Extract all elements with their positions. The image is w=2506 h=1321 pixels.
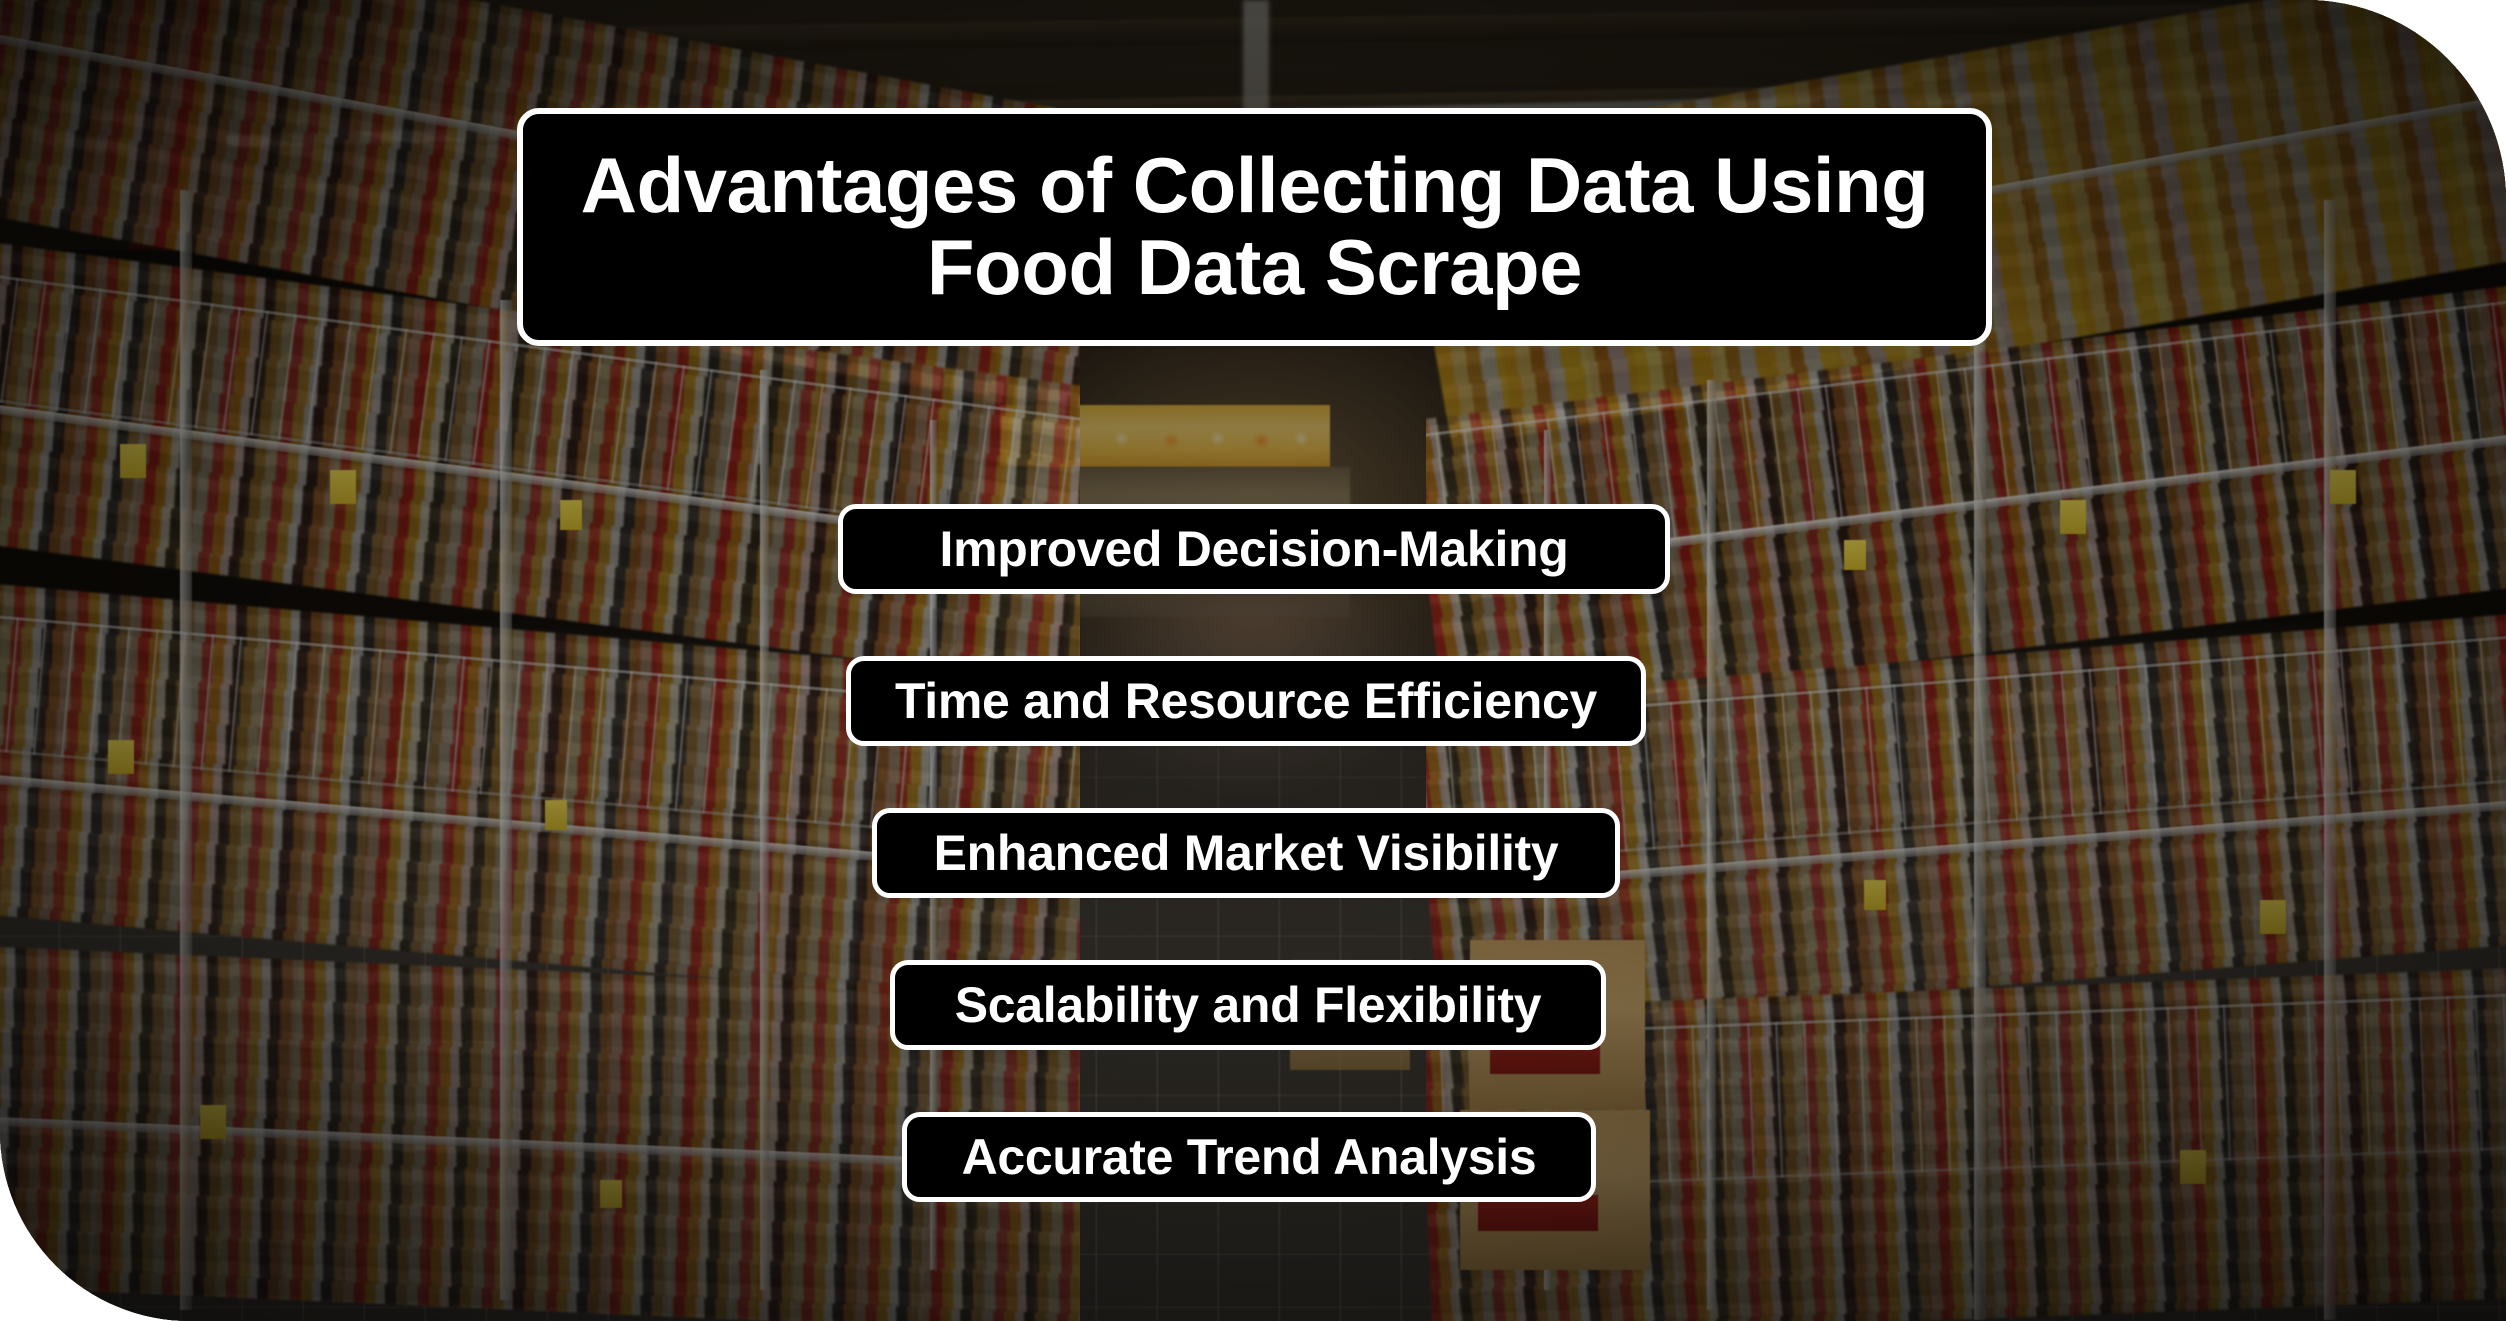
benefit-label-2: Time and Resource Efficiency [895, 676, 1597, 726]
poster-title: Advantages of Collecting Data Using Food… [553, 145, 1957, 309]
benefit-label-5: Accurate Trend Analysis [962, 1132, 1537, 1182]
benefit-label-3: Enhanced Market Visibility [934, 828, 1559, 878]
poster-content: Advantages of Collecting Data Using Food… [0, 0, 2506, 1321]
poster-canvas: Advantages of Collecting Data Using Food… [0, 0, 2506, 1321]
benefit-label-1: Improved Decision-Making [939, 524, 1568, 574]
benefit-card-4[interactable]: Scalability and Flexibility [890, 960, 1606, 1050]
benefit-card-1[interactable]: Improved Decision-Making [838, 504, 1670, 594]
title-card: Advantages of Collecting Data Using Food… [517, 108, 1992, 346]
benefit-card-2[interactable]: Time and Resource Efficiency [846, 656, 1646, 746]
benefit-card-5[interactable]: Accurate Trend Analysis [902, 1112, 1596, 1202]
benefit-label-4: Scalability and Flexibility [955, 980, 1542, 1030]
benefit-card-3[interactable]: Enhanced Market Visibility [872, 808, 1620, 898]
